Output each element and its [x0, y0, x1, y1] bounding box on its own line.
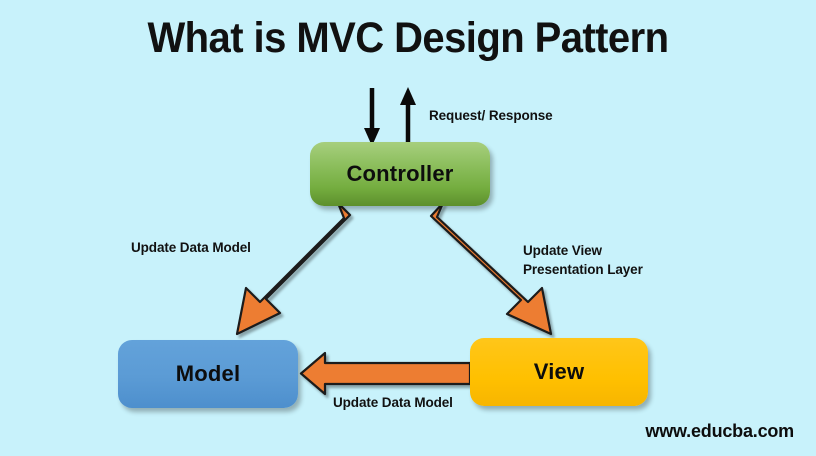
- node-view-label: View: [534, 359, 585, 385]
- edge-label-controller-to-model: Update Data Model: [131, 238, 251, 257]
- edge-label-request-response: Request/ Response: [429, 106, 553, 125]
- node-controller[interactable]: Controller: [310, 142, 490, 206]
- edge-label-controller-to-view-line1: Update View: [523, 243, 602, 258]
- edge-label-view-to-model: Update Data Model: [333, 393, 453, 412]
- arrow-controller-to-model: [237, 203, 350, 334]
- response-arrow-up-icon: [400, 87, 416, 146]
- edge-label-controller-to-view-line2: Presentation Layer: [523, 262, 643, 277]
- node-controller-label: Controller: [346, 161, 453, 187]
- arrow-view-to-model: [301, 353, 470, 394]
- node-model-label: Model: [176, 361, 241, 387]
- watermark: www.educba.com: [645, 421, 794, 442]
- diagram-canvas: What is MVC Design Pattern: [0, 0, 816, 456]
- request-arrow-down-icon: [364, 88, 380, 146]
- node-view[interactable]: View: [470, 338, 648, 406]
- node-model[interactable]: Model: [118, 340, 298, 408]
- edge-label-controller-to-view: Update ViewPresentation Layer: [523, 241, 643, 279]
- page-title: What is MVC Design Pattern: [29, 14, 788, 63]
